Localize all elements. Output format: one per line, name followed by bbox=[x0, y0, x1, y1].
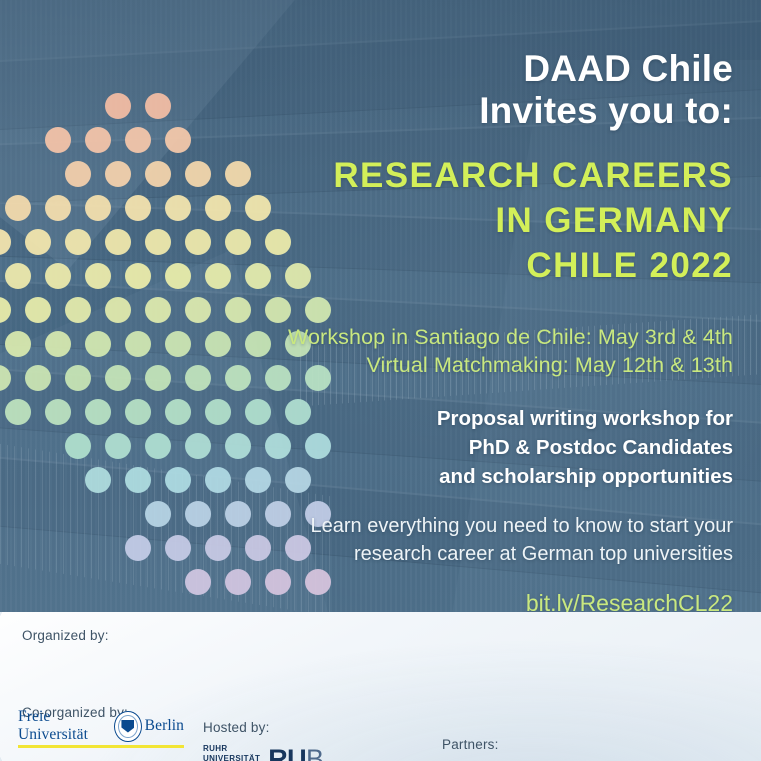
halftone-dot bbox=[125, 399, 151, 425]
halftone-dot bbox=[225, 365, 251, 391]
dates-line-2: Virtual Matchmaking: May 12th & 13th bbox=[263, 351, 733, 380]
fu-berlin-word-2: Berlin bbox=[145, 717, 184, 735]
halftone-dot bbox=[145, 161, 171, 187]
halftone-dot bbox=[125, 331, 151, 357]
logo-fu-berlin: Freie Universität Berlin bbox=[18, 708, 184, 748]
dates-line-1: Workshop in Santiago de Chile: May 3rd &… bbox=[263, 323, 733, 352]
halftone-dot bbox=[205, 195, 231, 221]
halftone-dot bbox=[225, 297, 251, 323]
halftone-dot bbox=[25, 297, 51, 323]
halftone-dot bbox=[165, 535, 191, 561]
halftone-dot bbox=[165, 195, 191, 221]
fu-berlin-word-1: Freie Universität bbox=[18, 708, 111, 744]
halftone-dot bbox=[165, 127, 191, 153]
halftone-dot bbox=[205, 467, 231, 493]
halftone-dot bbox=[205, 535, 231, 561]
headline-line-2: Invites you to: bbox=[263, 90, 733, 132]
halftone-dot bbox=[85, 263, 111, 289]
halftone-dot bbox=[145, 93, 171, 119]
halftone-dot bbox=[225, 161, 251, 187]
halftone-dot bbox=[65, 365, 91, 391]
headline-line-1: DAAD Chile bbox=[263, 48, 733, 90]
halftone-dot bbox=[45, 127, 71, 153]
halftone-dot bbox=[145, 433, 171, 459]
halftone-dot bbox=[105, 161, 131, 187]
learn-line-2: research career at German top universiti… bbox=[263, 541, 733, 569]
halftone-dot bbox=[105, 433, 131, 459]
title-line-3: CHILE 2022 bbox=[263, 244, 733, 289]
halftone-dot bbox=[45, 399, 71, 425]
poster-canvas: DAAD Chile Invites you to: RESEARCH CARE… bbox=[0, 0, 761, 761]
halftone-dot bbox=[85, 331, 111, 357]
halftone-dot bbox=[165, 467, 191, 493]
halftone-dot bbox=[145, 501, 171, 527]
rub-wordmark-small: RUHR UNIVERSITÄT BOCHUM bbox=[203, 744, 260, 761]
focus-line-3: and scholarship opportunities bbox=[263, 462, 733, 491]
halftone-dot bbox=[105, 297, 131, 323]
fu-berlin-underline bbox=[18, 745, 184, 748]
focus-line-1: Proposal writing workshop for bbox=[263, 404, 733, 433]
halftone-dot bbox=[185, 501, 211, 527]
halftone-dot bbox=[145, 229, 171, 255]
title-line-2: IN GERMANY bbox=[263, 199, 733, 244]
halftone-dot bbox=[0, 365, 11, 391]
halftone-dot bbox=[125, 467, 151, 493]
halftone-dot bbox=[125, 127, 151, 153]
halftone-dot bbox=[205, 263, 231, 289]
halftone-dot bbox=[185, 365, 211, 391]
halftone-dot bbox=[25, 365, 51, 391]
event-description: Learn everything you need to know to sta… bbox=[263, 513, 733, 568]
invite-headline: DAAD Chile Invites you to: bbox=[263, 48, 733, 132]
halftone-dot bbox=[145, 365, 171, 391]
event-title: RESEARCH CAREERS IN GERMANY CHILE 2022 bbox=[263, 154, 733, 288]
halftone-dot bbox=[65, 297, 91, 323]
halftone-dot bbox=[5, 195, 31, 221]
halftone-dot bbox=[45, 331, 71, 357]
rub-mark-ru: RU bbox=[268, 744, 306, 761]
halftone-dot bbox=[0, 229, 11, 255]
halftone-dot bbox=[225, 229, 251, 255]
title-line-1: RESEARCH CAREERS bbox=[263, 154, 733, 199]
fu-berlin-seal-icon bbox=[114, 711, 141, 742]
halftone-dot bbox=[65, 161, 91, 187]
halftone-dot bbox=[165, 399, 191, 425]
event-dates: Workshop in Santiago de Chile: May 3rd &… bbox=[263, 323, 733, 380]
halftone-dot bbox=[185, 297, 211, 323]
learn-line-1: Learn everything you need to know to sta… bbox=[263, 513, 733, 541]
halftone-dot bbox=[205, 399, 231, 425]
halftone-dot bbox=[165, 331, 191, 357]
rub-small-line-2: UNIVERSITÄT bbox=[203, 754, 260, 761]
halftone-dot bbox=[85, 467, 111, 493]
halftone-dot bbox=[205, 331, 231, 357]
halftone-dot bbox=[185, 161, 211, 187]
halftone-dot bbox=[165, 263, 191, 289]
shield-icon bbox=[121, 720, 134, 733]
event-focus: Proposal writing workshop for PhD & Post… bbox=[263, 404, 733, 491]
focus-line-2: PhD & Postdoc Candidates bbox=[263, 433, 733, 462]
halftone-dot bbox=[125, 535, 151, 561]
rub-small-line-1: RUHR bbox=[203, 744, 260, 754]
halftone-dot bbox=[25, 229, 51, 255]
halftone-dot bbox=[85, 127, 111, 153]
halftone-dot bbox=[225, 501, 251, 527]
halftone-dot bbox=[125, 195, 151, 221]
footer-logo-bar: Organized by: Co-organized by: Hosted by… bbox=[0, 612, 761, 761]
halftone-dot bbox=[45, 263, 71, 289]
halftone-dot bbox=[105, 93, 131, 119]
halftone-dot bbox=[185, 229, 211, 255]
halftone-dot bbox=[185, 569, 211, 595]
halftone-dot bbox=[0, 297, 11, 323]
halftone-dot bbox=[145, 297, 171, 323]
halftone-dot bbox=[185, 433, 211, 459]
halftone-dot bbox=[125, 263, 151, 289]
halftone-dot bbox=[5, 263, 31, 289]
rub-wordmark-large: RUB bbox=[268, 744, 323, 761]
halftone-dot bbox=[85, 195, 111, 221]
label-organized-by: Organized by: bbox=[22, 628, 761, 643]
halftone-dot bbox=[65, 229, 91, 255]
halftone-dot bbox=[225, 569, 251, 595]
halftone-dot bbox=[225, 433, 251, 459]
poster-content: DAAD Chile Invites you to: RESEARCH CARE… bbox=[263, 48, 733, 617]
halftone-dot bbox=[45, 195, 71, 221]
halftone-dot bbox=[105, 365, 131, 391]
halftone-dot bbox=[85, 399, 111, 425]
rub-mark-b: B bbox=[306, 744, 323, 761]
halftone-dot bbox=[65, 433, 91, 459]
halftone-dot bbox=[5, 399, 31, 425]
fu-berlin-row: Freie Universität Berlin bbox=[18, 708, 184, 744]
halftone-dot bbox=[105, 229, 131, 255]
label-hosted-by: Hosted by: bbox=[203, 720, 761, 735]
halftone-dot bbox=[5, 331, 31, 357]
logo-rub: RUHR UNIVERSITÄT BOCHUM RUB bbox=[203, 744, 761, 761]
